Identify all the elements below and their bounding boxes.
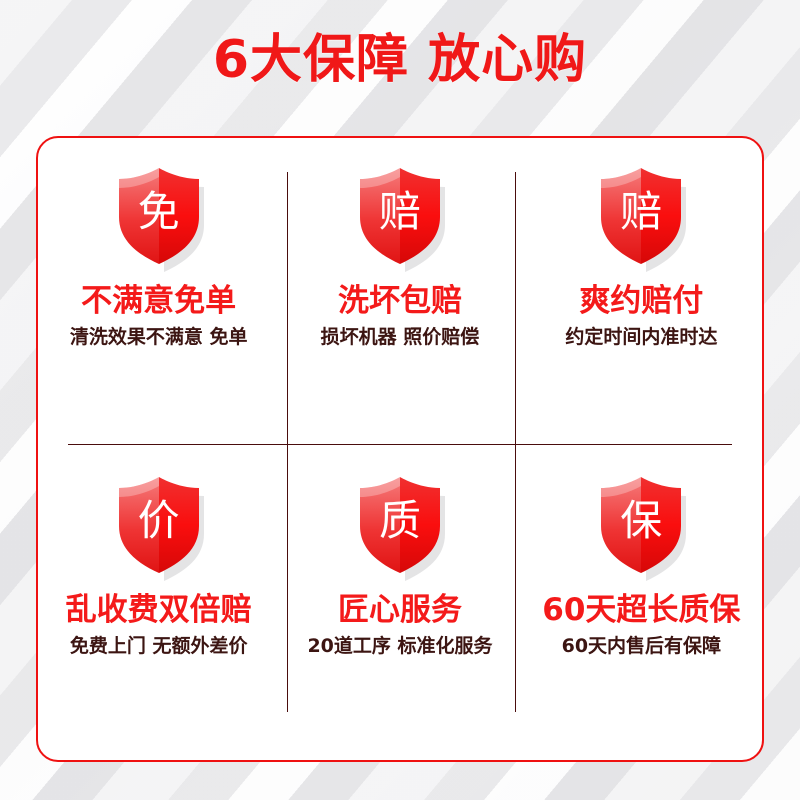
guarantee-subtitle: 免费上门 无额外差价 — [70, 636, 248, 658]
guarantee-card-4[interactable]: 价 乱收费双倍赔 免费上门 无额外差价 — [38, 449, 279, 760]
guarantee-card-6[interactable]: 保 60天超长质保 60天内售后有保障 — [521, 449, 762, 760]
grid-divider-vertical-1 — [287, 172, 288, 712]
guarantee-title: 不满意免单 — [81, 284, 236, 318]
grid-divider-horizontal — [68, 444, 732, 445]
guarantee-title: 乱收费双倍赔 — [66, 593, 252, 627]
guarantee-title: 60天超长质保 — [542, 593, 740, 627]
guarantee-subtitle: 约定时间内准时达 — [565, 327, 717, 349]
shield-badge: 价 — [111, 473, 207, 581]
guarantee-card-3[interactable]: 赔 爽约赔付 约定时间内准时达 — [521, 138, 762, 449]
guarantee-card-1[interactable]: 免 不满意免单 清洗效果不满意 免单 — [38, 138, 279, 449]
poster-header: 6大保障 放心购 — [0, 0, 800, 120]
shield-icon — [593, 473, 689, 581]
guarantee-panel: 免 不满意免单 清洗效果不满意 免单 赔 — [36, 136, 764, 762]
shield-icon — [111, 164, 207, 272]
guarantee-subtitle: 60天内售后有保障 — [562, 636, 721, 658]
grid-divider-vertical-2 — [515, 172, 516, 712]
shield-icon — [111, 473, 207, 581]
guarantee-subtitle: 清洗效果不满意 免单 — [70, 327, 248, 349]
shield-icon — [352, 473, 448, 581]
shield-badge: 赔 — [593, 164, 689, 272]
guarantee-subtitle: 20道工序 标准化服务 — [307, 636, 492, 658]
shield-badge: 免 — [111, 164, 207, 272]
guarantee-grid: 免 不满意免单 清洗效果不满意 免单 赔 — [38, 138, 762, 760]
guarantee-card-5[interactable]: 质 匠心服务 20道工序 标准化服务 — [279, 449, 520, 760]
promo-poster: 6大保障 放心购 — [0, 0, 800, 800]
page-title: 6大保障 放心购 — [213, 34, 587, 86]
shield-badge: 质 — [352, 473, 448, 581]
guarantee-title: 匠心服务 — [338, 593, 462, 627]
shield-badge: 保 — [593, 473, 689, 581]
guarantee-subtitle: 损坏机器 照价赔偿 — [321, 327, 480, 349]
guarantee-title: 爽约赔付 — [579, 284, 703, 318]
shield-badge: 赔 — [352, 164, 448, 272]
guarantee-title: 洗坏包赔 — [338, 284, 462, 318]
shield-icon — [352, 164, 448, 272]
shield-icon — [593, 164, 689, 272]
guarantee-card-2[interactable]: 赔 洗坏包赔 损坏机器 照价赔偿 — [279, 138, 520, 449]
